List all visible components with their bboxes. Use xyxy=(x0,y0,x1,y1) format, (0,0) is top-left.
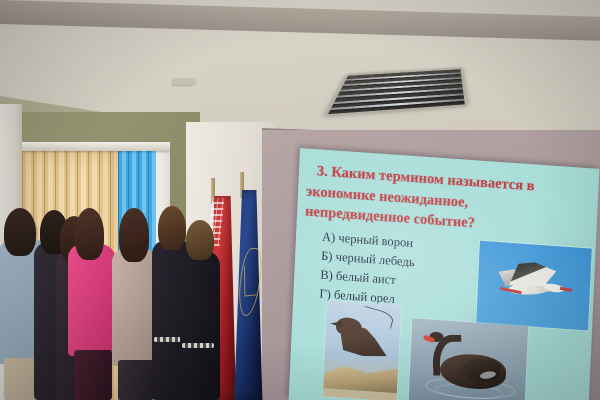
stork-photo xyxy=(476,241,591,331)
person-5-legs xyxy=(118,360,154,400)
raven-photo xyxy=(323,300,401,400)
person-5-hair xyxy=(119,208,149,262)
person-7-hair xyxy=(186,220,214,260)
raven-head xyxy=(336,317,363,337)
person-7-torso xyxy=(180,250,220,400)
classroom-photo: 3. Каким термином называется в экономике… xyxy=(0,0,600,400)
blinds-rail xyxy=(22,142,170,151)
person-1-hair xyxy=(4,208,36,256)
raven-branch xyxy=(323,358,398,393)
person-6-hair xyxy=(158,206,186,250)
person-4-hair xyxy=(75,208,104,260)
projection-screen: 3. Каким термином называется в экономике… xyxy=(289,148,600,400)
raven-twig xyxy=(361,306,395,329)
ceiling-light-fixture xyxy=(325,68,467,116)
person-4-torso xyxy=(68,244,116,356)
black-swan-photo xyxy=(408,318,528,400)
smoke-detector xyxy=(171,78,197,85)
person-4-legs xyxy=(74,350,112,400)
person-7-belt xyxy=(182,343,214,348)
